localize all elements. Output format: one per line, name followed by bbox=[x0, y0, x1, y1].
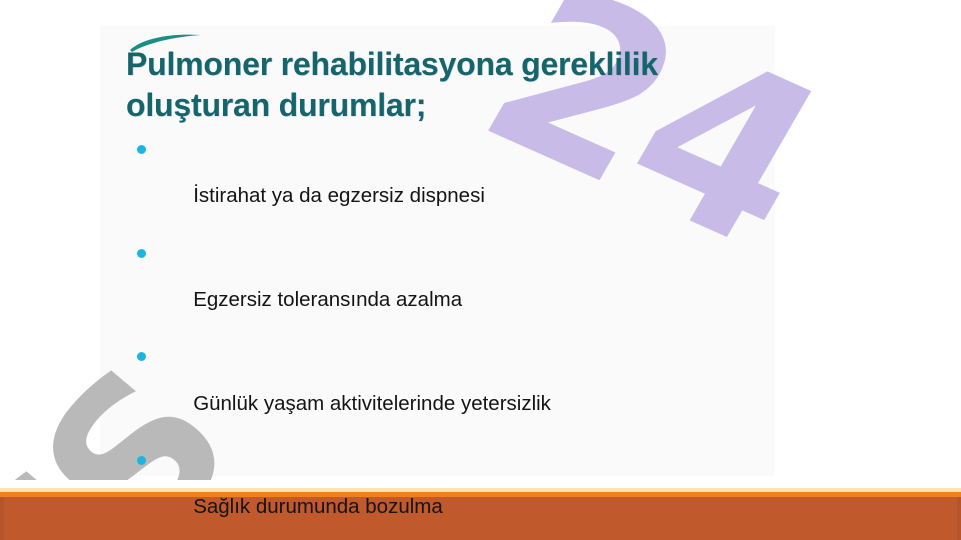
list-item: Egzersiz toleransında azalma bbox=[133, 242, 773, 335]
list-item-label: Sağlık durumunda bozulma bbox=[193, 495, 443, 518]
bullet-dot-icon bbox=[137, 352, 146, 361]
list-item: Sağlık durumunda bozulma bbox=[133, 449, 773, 540]
list-item-label: Egzersiz toleransında azalma bbox=[193, 288, 462, 311]
title-block: Pulmoner rehabilitasyona gereklilik oluş… bbox=[126, 44, 746, 126]
bullet-dot-icon bbox=[137, 249, 146, 258]
footer-band-left-edge bbox=[0, 497, 4, 540]
bullet-dot-icon bbox=[137, 145, 146, 154]
page-title: Pulmoner rehabilitasyona gereklilik oluş… bbox=[126, 44, 746, 126]
bullet-dot-icon bbox=[137, 456, 146, 465]
list-item-label: İstirahat ya da egzersiz dispnesi bbox=[193, 184, 485, 207]
presentation-slide: SS 24 Pulmoner rehabilitasyona gereklili… bbox=[0, 0, 961, 540]
list-item-label: Günlük yaşam aktivitelerinde yetersizlik bbox=[193, 392, 551, 415]
bullet-list: İstirahat ya da egzersiz dispnesi Egzers… bbox=[133, 138, 773, 540]
list-item: İstirahat ya da egzersiz dispnesi bbox=[133, 138, 773, 231]
list-item: Günlük yaşam aktivitelerinde yetersizlik bbox=[133, 345, 773, 438]
footer-band-right-edge bbox=[957, 497, 961, 540]
